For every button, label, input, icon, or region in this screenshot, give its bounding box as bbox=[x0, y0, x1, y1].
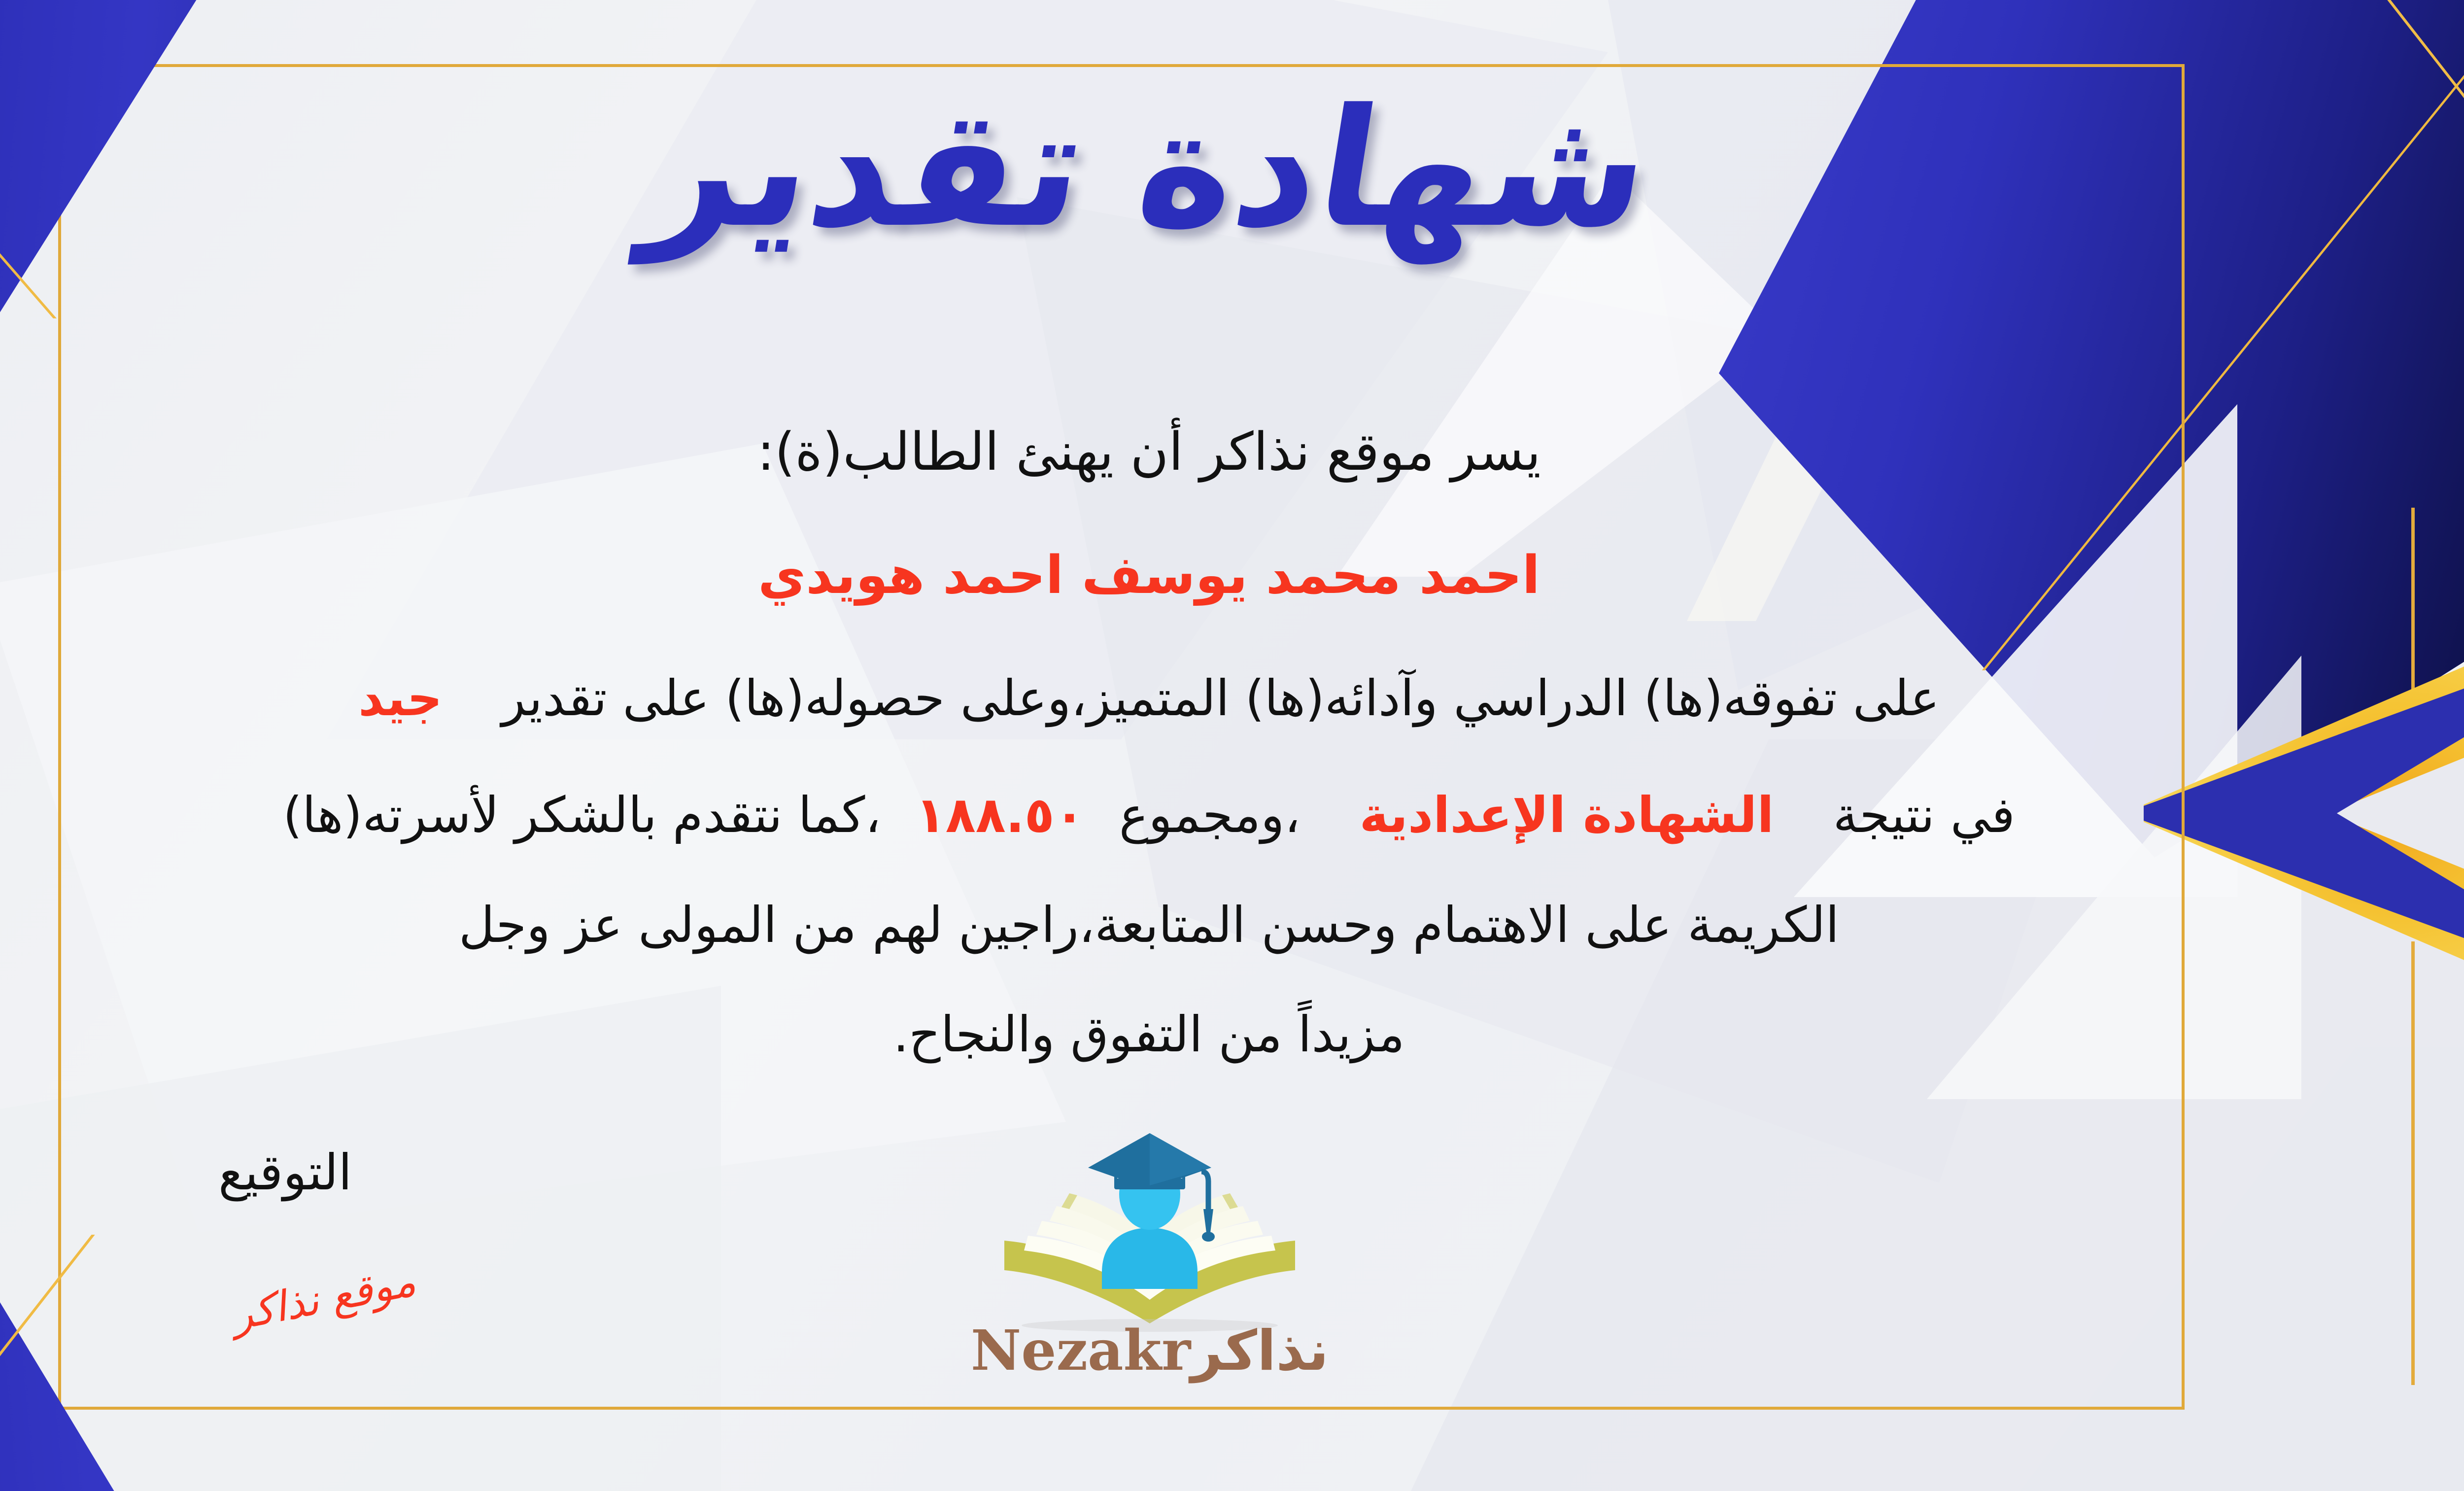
body-line-2-suffix: ،كما نتقدم بالشكر لأسرته(ها) bbox=[283, 786, 881, 844]
body-line-3: الكريمة على الاهتمام وحسن المتابعة،راجين… bbox=[0, 896, 2464, 954]
certificate-canvas: شهادة تقدير يسر موقع نذاكر أن يهنئ الطال… bbox=[0, 0, 2464, 1491]
logo-graphic bbox=[945, 1126, 1354, 1333]
total-score: ١٨٨.٥٠ bbox=[916, 786, 1085, 844]
logo-wordmark: نذاكرNezakr bbox=[945, 1318, 1354, 1383]
body-line-2-middle: ،ومجموع bbox=[1119, 786, 1300, 844]
certificate-content: شهادة تقدير يسر موقع نذاكر أن يهنئ الطال… bbox=[0, 0, 2464, 1491]
logo-name-arabic: نذاكر bbox=[1191, 1319, 1329, 1383]
body-line-1: على تفوقه(ها) الدراسي وآدائه(ها) المتميز… bbox=[0, 669, 2464, 727]
body-line-2: في نتيجةالشهادة الإعدادية،ومجموع١٨٨.٥٠،ك… bbox=[0, 786, 2464, 844]
signature-label: التوقيع bbox=[218, 1144, 352, 1201]
exam-name: الشهادة الإعدادية bbox=[1360, 786, 1774, 844]
nezakr-logo: نذاكرNezakr bbox=[945, 1126, 1354, 1402]
greeting-text: يسر موقع نذاكر أن يهنئ الطالب(ة): bbox=[0, 421, 2464, 482]
body-line-1-text: على تفوقه(ها) الدراسي وآدائه(ها) المتميز… bbox=[502, 669, 1940, 727]
signature-mark: موقع نذاكر bbox=[228, 1257, 419, 1340]
certificate-title: شهادة تقدير bbox=[0, 59, 2464, 279]
student-name: احمد محمد يوسف احمد هويدي bbox=[0, 545, 2464, 605]
grade-value: جيد bbox=[358, 669, 443, 727]
body-line-4: مزيداً من التفوق والنجاح. bbox=[0, 1006, 2464, 1063]
logo-name-latin: Nezakr bbox=[971, 1318, 1191, 1383]
body-line-2-prefix: في نتيجة bbox=[1833, 786, 2015, 844]
